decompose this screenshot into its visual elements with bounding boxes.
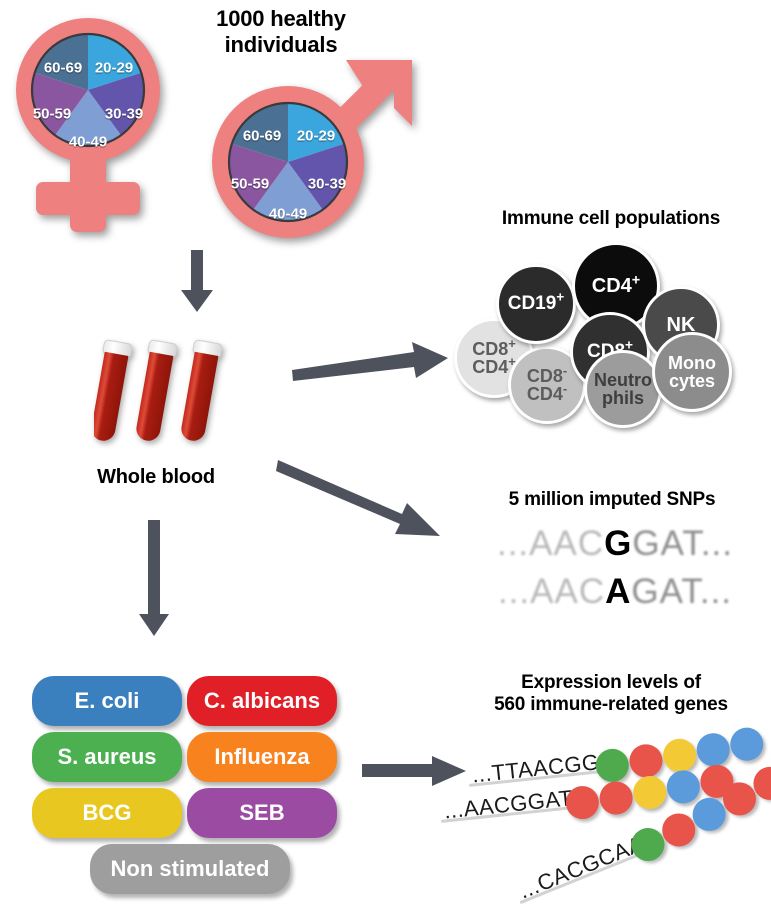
arrow-cohort-to-blood <box>177 250 217 314</box>
blood-tubes-icon <box>94 336 234 462</box>
male-pie-label-40-49: 40-49 <box>269 206 307 223</box>
rna-bead <box>695 732 731 768</box>
snp-allele-1: ...AACGGAT... <box>470 524 760 564</box>
stim-box-bcg[interactable]: BCG <box>32 788 182 838</box>
arrow-blood-to-stimulations <box>134 520 174 638</box>
female-symbol-icon <box>8 10 188 240</box>
snp-sequences: ...AACGGAT... ...AACAGAT... <box>470 524 760 620</box>
male-pie-label-50-59: 50-59 <box>231 176 269 193</box>
male-pie-label-20-29: 20-29 <box>297 128 335 145</box>
stim-label: Non stimulated <box>111 856 270 882</box>
cell-label: Neutrophils <box>594 371 652 408</box>
female-symbol: 20-29 30-39 40-49 50-59 60-69 <box>8 10 188 240</box>
male-symbol: 20-29 30-39 40-49 50-59 60-69 <box>198 58 428 248</box>
rna-sequence-1: ...TTAACGG <box>471 749 601 788</box>
rna-bead <box>665 769 701 805</box>
cell-label: CD19+ <box>508 294 565 313</box>
snp-allele-2: ...AACAGAT... <box>470 572 760 612</box>
cell-label: CD8-CD4- <box>527 367 567 404</box>
stim-box-e-coli[interactable]: E. coli <box>32 676 182 726</box>
cohort-title-line2: individuals <box>174 32 388 58</box>
rna-sequence-3: ...CACGCAA <box>515 831 647 905</box>
expression-title-line2: 560 immune-related genes <box>452 694 770 716</box>
rna-bead <box>564 784 600 820</box>
stim-label: C. albicans <box>204 688 320 714</box>
figure-canvas: 1000 healthy individuals 20-2 <box>0 0 771 922</box>
female-pie-label-30-39: 30-39 <box>105 106 143 123</box>
rna-bead <box>661 737 697 773</box>
cell-label: CD8+CD4+ <box>472 340 516 377</box>
immune-title: Immune cell populations <box>452 208 770 230</box>
cell-cd19pos: CD19+ <box>496 264 576 344</box>
snp1-prefix: ...AAC <box>497 524 604 563</box>
rna-bead <box>729 726 765 762</box>
cell-label: CD4+ <box>592 276 640 296</box>
cell-neutrophils: Neutrophils <box>584 350 662 428</box>
female-pie-label-20-29: 20-29 <box>95 60 133 77</box>
cell-label: Monocytes <box>668 354 716 391</box>
cell-monocytes: Monocytes <box>652 332 732 412</box>
rna-bead <box>632 774 668 810</box>
stim-label: S. aureus <box>57 744 156 770</box>
rna-bead <box>594 747 630 783</box>
expression-title: Expression levels of 560 immune-related … <box>452 672 770 716</box>
male-pie-label-60-69: 60-69 <box>243 128 281 145</box>
rna-bead <box>598 780 634 816</box>
stim-box-influenza[interactable]: Influenza <box>187 732 337 782</box>
expression-title-line1: Expression levels of <box>452 672 770 694</box>
immune-cell-cluster: CD8+CD4+ CD8-CD4- CD19+ CD4+ CD8+ NK Neu… <box>452 238 770 416</box>
arrow-blood-to-immune-cells <box>290 336 450 386</box>
stim-box-s-aureus[interactable]: S. aureus <box>32 732 182 782</box>
cohort-title: 1000 healthy individuals <box>174 6 388 57</box>
whole-blood-label: Whole blood <box>36 466 276 489</box>
male-symbol-icon <box>198 58 428 248</box>
stim-label: BCG <box>83 800 132 826</box>
stim-label: SEB <box>239 800 284 826</box>
rna-sequence-2: ...AACGGAT <box>443 785 574 824</box>
female-pie-label-50-59: 50-59 <box>33 106 71 123</box>
stimulation-panel: E. coli C. albicans S. aureus Influenza … <box>32 676 352 896</box>
stim-box-seb[interactable]: SEB <box>187 788 337 838</box>
blood-tubes <box>94 336 234 462</box>
stim-label: Influenza <box>214 744 309 770</box>
male-pie-label-30-39: 30-39 <box>308 176 346 193</box>
snp2-prefix: ...AAC <box>498 572 605 611</box>
snp2-suffix: GAT... <box>631 572 732 611</box>
snp1-suffix: GAT... <box>632 524 733 563</box>
cohort-title-line1: 1000 healthy <box>174 6 388 32</box>
stim-box-non-stimulated[interactable]: Non stimulated <box>90 844 290 894</box>
arrow-blood-to-snps <box>276 452 444 552</box>
snps-title: 5 million imputed SNPs <box>462 489 762 511</box>
snp1-variant: G <box>604 524 632 563</box>
stim-label: E. coli <box>75 688 140 714</box>
rna-strands: ...TTAACGG ...AACGGAT ...CACGCAA <box>440 745 771 915</box>
female-pie-label-60-69: 60-69 <box>44 60 82 77</box>
snp2-variant: A <box>605 572 631 611</box>
stim-box-c-albicans[interactable]: C. albicans <box>187 676 337 726</box>
rna-bead <box>628 743 664 779</box>
female-pie-label-40-49: 40-49 <box>69 134 107 151</box>
